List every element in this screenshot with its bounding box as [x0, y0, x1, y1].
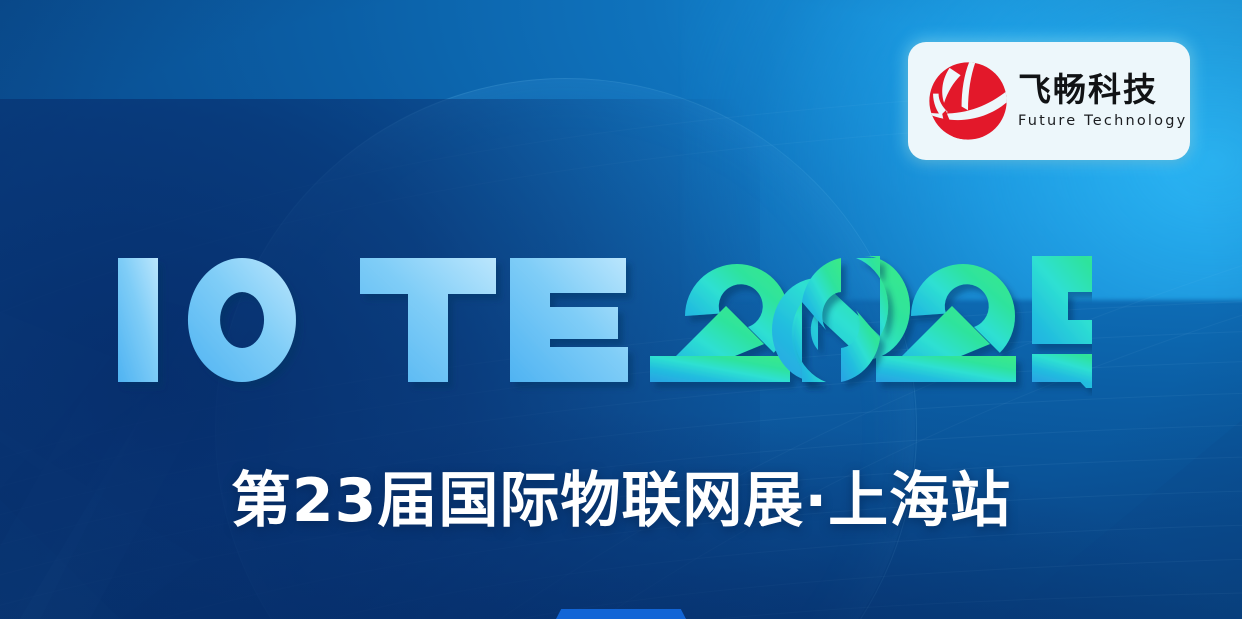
event-title-graphic — [112, 244, 1092, 396]
iote-2025-banner: 第23届国际物联网展·上海站 — [0, 0, 1242, 619]
company-name-cn: 飞畅科技 — [1018, 73, 1187, 108]
company-name-en: Future Technology — [1018, 113, 1187, 129]
bottom-accent-bar — [556, 609, 686, 619]
event-title — [112, 244, 1092, 396]
company-logo-icon — [922, 55, 1014, 147]
title-iote — [118, 258, 628, 382]
title-year — [650, 248, 1092, 388]
sponsor-logo-badge[interactable]: 飞畅科技 Future Technology — [908, 42, 1190, 160]
company-name-block: 飞畅科技 Future Technology — [1018, 73, 1187, 129]
event-subtitle: 第23届国际物联网展·上海站 — [0, 452, 1242, 539]
